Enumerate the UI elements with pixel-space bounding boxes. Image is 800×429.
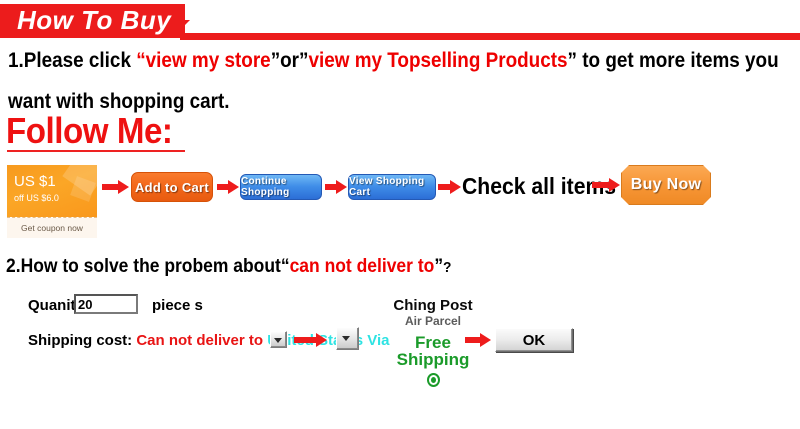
chevron-down-icon bbox=[274, 338, 282, 343]
get-coupon-now-label[interactable]: Get coupon now bbox=[7, 223, 97, 233]
section2-quote-open: “ bbox=[281, 256, 290, 277]
intro-suffix: to get more items you bbox=[582, 49, 778, 72]
add-to-cart-button[interactable]: Add to Cart bbox=[131, 172, 213, 202]
flow-arrow-icon bbox=[102, 180, 129, 194]
radio-selected-dot-icon bbox=[431, 377, 436, 383]
shipping-method-radio[interactable] bbox=[427, 373, 440, 387]
section2-heading: 2.How to solve the probem about“can not … bbox=[6, 256, 451, 278]
purchase-flow-row: US $1 off US $6.0 Get coupon now Add to … bbox=[0, 160, 800, 240]
follow-me-rule bbox=[7, 150, 185, 152]
flow-arrow-icon bbox=[325, 180, 346, 194]
intro-separator: ”or” bbox=[271, 49, 309, 72]
coupon-condition: off US $6.0 bbox=[14, 193, 59, 203]
shipping-cost-label: Shipping cost: bbox=[28, 332, 132, 349]
coupon-card-top: US $1 off US $6.0 bbox=[7, 165, 97, 217]
header-banner: How To Buy bbox=[0, 4, 800, 40]
section2-heading-error: can not deliver to bbox=[290, 256, 435, 277]
ok-button[interactable]: OK bbox=[495, 328, 573, 352]
page-title: How To Buy bbox=[17, 5, 171, 36]
section2-heading-tail: ? bbox=[443, 259, 451, 276]
quantity-input[interactable] bbox=[74, 294, 138, 314]
link-view-my-store[interactable]: view my store bbox=[146, 49, 271, 72]
shipping-method-dropdown[interactable] bbox=[336, 327, 359, 350]
follow-me-heading: Follow Me: bbox=[6, 110, 173, 152]
shipping-carrier-name: Ching Post bbox=[378, 298, 488, 314]
intro-prefix: 1.Please click bbox=[8, 49, 131, 72]
section2-quote-close: ” bbox=[434, 256, 443, 277]
flow-arrow-icon bbox=[438, 180, 461, 194]
flow-arrow-icon bbox=[217, 180, 238, 194]
shipping-service-name: Air Parcel bbox=[378, 314, 488, 328]
shipping-price-line-2: Shipping bbox=[378, 351, 488, 368]
flow-arrow-icon bbox=[592, 178, 620, 192]
intro-quote-open: “ bbox=[136, 49, 145, 72]
section2-heading-prefix: 2.How to solve the probem about bbox=[6, 256, 281, 277]
intro-line-1: 1.Please click “view my store”or”view my… bbox=[8, 48, 719, 74]
header-underline-bar bbox=[180, 33, 800, 40]
step-arrow-icon bbox=[294, 333, 328, 347]
coupon-card[interactable]: US $1 off US $6.0 Get coupon now bbox=[7, 165, 97, 238]
shipping-destination-dropdown[interactable] bbox=[270, 331, 287, 348]
chevron-down-icon bbox=[342, 336, 350, 341]
shipping-to-word: to bbox=[249, 332, 263, 349]
intro-quote-close: ” bbox=[568, 49, 577, 72]
step-arrow-icon bbox=[465, 333, 491, 347]
shipping-error-text: Can not deliver bbox=[136, 332, 244, 349]
quantity-unit-label: piece s bbox=[152, 297, 203, 314]
view-shopping-cart-button[interactable]: View Shopping Cart bbox=[348, 174, 436, 200]
buy-now-button[interactable]: Buy Now bbox=[621, 165, 711, 205]
coupon-card-bottom[interactable]: Get coupon now bbox=[7, 218, 97, 238]
link-view-topselling-products[interactable]: view my Topselling Products bbox=[308, 49, 567, 72]
continue-shopping-button[interactable]: Continue Shopping bbox=[240, 174, 322, 200]
coupon-amount: US $1 bbox=[14, 173, 56, 190]
